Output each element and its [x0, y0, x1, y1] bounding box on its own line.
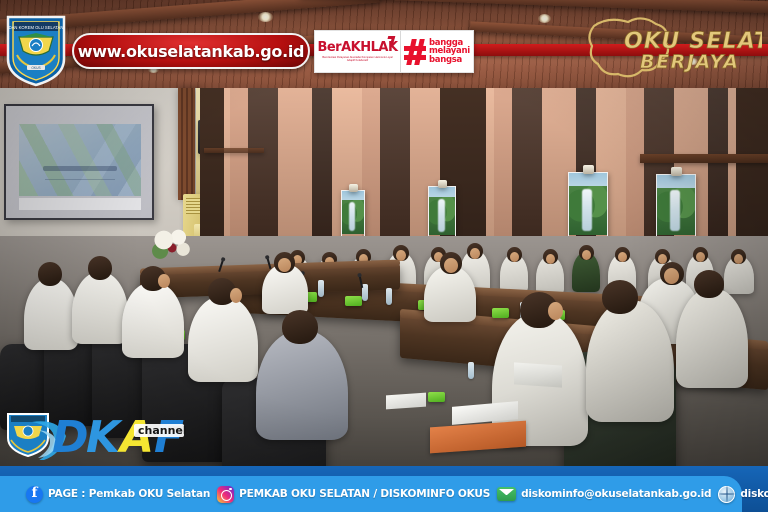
ceiling-downlight: [258, 12, 273, 22]
website-label: diskominfo.okuselatankab.go.id: [740, 488, 768, 500]
picture-light-icon: [583, 165, 594, 174]
berakhlak-logo: BerAKHLAK Berorientasi Pelayanan Akuntab…: [315, 31, 401, 72]
oku-selatan-berjaya-logo: OKU SELATAN BERJAYA: [580, 10, 762, 84]
facebook-label: PAGE : Pemkab OKU Selatan: [48, 488, 210, 500]
wall-photo: [341, 190, 365, 242]
presentation-slide: [19, 124, 141, 196]
dkaf-letter-d: D: [52, 412, 89, 460]
dkaf-letter-k: K: [86, 412, 123, 460]
instagram-icon: [217, 486, 234, 503]
picture-light-icon: [349, 184, 358, 192]
regency-crest-icon: DAN KOREM OLU SELATAN OKUS: [5, 13, 67, 87]
website-url-text: www.okuselatankab.go.id: [78, 42, 304, 61]
website-url-badge[interactable]: www.okuselatankab.go.id: [72, 33, 310, 69]
dkaf-sub-label: channel: [138, 424, 187, 437]
website-contact[interactable]: diskominfo.okuselatankab.go.id: [718, 486, 768, 503]
paper-stack: [514, 362, 562, 387]
wall-photo: [568, 172, 608, 246]
paper-sheet: [386, 393, 426, 410]
globe-icon: [718, 486, 735, 503]
svg-text:OKUS: OKUS: [31, 66, 41, 70]
berjaya-line-2: BERJAYA: [640, 51, 740, 73]
berakhlak-subtitle: Berorientasi Pelayanan Akuntabel Kompete…: [321, 56, 395, 63]
bangga-melayani-bangsa-logo: bangga melayani bangsa: [401, 31, 473, 72]
svg-text:DAN KOREM OLU SELATAN: DAN KOREM OLU SELATAN: [9, 25, 64, 30]
contact-bar-inner: PAGE : Pemkab OKU Selatan PEMKAB OKU SEL…: [0, 476, 742, 512]
wood-column: [178, 88, 195, 200]
snack-box: [492, 308, 509, 318]
bangga-hash-icon: [404, 39, 426, 65]
ceiling-downlight: [538, 14, 551, 23]
instagram-contact[interactable]: PEMKAB OKU SELATAN / DISKOMINFO OKUS: [217, 486, 490, 503]
program-logos[interactable]: BerAKHLAK Berorientasi Pelayanan Akuntab…: [314, 30, 474, 73]
water-bottle: [318, 280, 324, 297]
wall-trim: [640, 154, 768, 163]
flower-arrangement: [150, 226, 196, 266]
water-bottle: [468, 362, 474, 379]
instagram-label: PEMKAB OKU SELATAN / DISKOMINFO OKUS: [239, 488, 490, 500]
snack-box: [428, 392, 445, 402]
dkaf-channel-watermark: D K A F channel: [2, 408, 220, 460]
water-bottle: [386, 288, 392, 305]
email-label: diskominfo@okuselatankab.go.id: [521, 488, 711, 500]
email-icon: [497, 487, 516, 501]
screenshot-root: DAN KOREM OLU SELATAN OKUS www.okuselata…: [0, 0, 768, 512]
facebook-contact[interactable]: PAGE : Pemkab OKU Selatan: [26, 486, 210, 503]
bottom-contact-bar: PAGE : Pemkab OKU Selatan PEMKAB OKU SEL…: [0, 466, 768, 512]
screen-bottom-edge: [19, 198, 141, 210]
wall-trim: [204, 148, 264, 153]
picture-light-icon: [438, 180, 447, 188]
bangga-line-3: bangsa: [429, 56, 470, 65]
email-contact[interactable]: diskominfo@okuselatankab.go.id: [497, 487, 711, 501]
picture-light-icon: [671, 167, 682, 176]
snack-box: [345, 296, 362, 306]
dkaf-crest-icon: [8, 414, 48, 456]
projection-screen: [4, 104, 154, 220]
facebook-icon: [26, 486, 43, 503]
